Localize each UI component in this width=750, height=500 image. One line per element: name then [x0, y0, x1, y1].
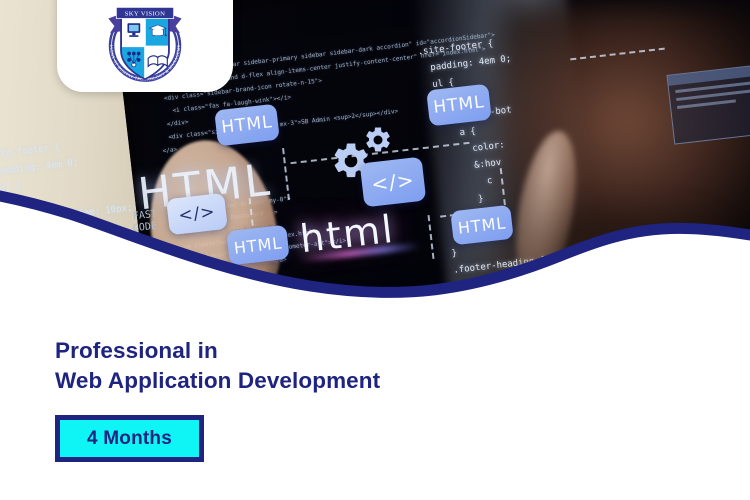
- title-line-2: Web Application Development: [55, 366, 380, 396]
- logo-card: COLLEGE OF DIGITAL TECHNOLOGY & MANAGEME…: [57, 0, 233, 92]
- page-title: Professional in Web Application Developm…: [55, 336, 380, 396]
- duration-badge-label: 4 Months: [87, 428, 172, 450]
- course-poster: <nav class="navbar sidebar sidebar-prima…: [0, 0, 750, 500]
- sky-vision-crest-logo: COLLEGE OF DIGITAL TECHNOLOGY & MANAGEME…: [97, 1, 193, 87]
- crest-banner-text: SKY VISION: [125, 11, 165, 18]
- duration-badge[interactable]: 4 Months: [55, 415, 204, 462]
- title-line-1: Professional in: [55, 338, 218, 363]
- open-book-icon: [148, 56, 167, 66]
